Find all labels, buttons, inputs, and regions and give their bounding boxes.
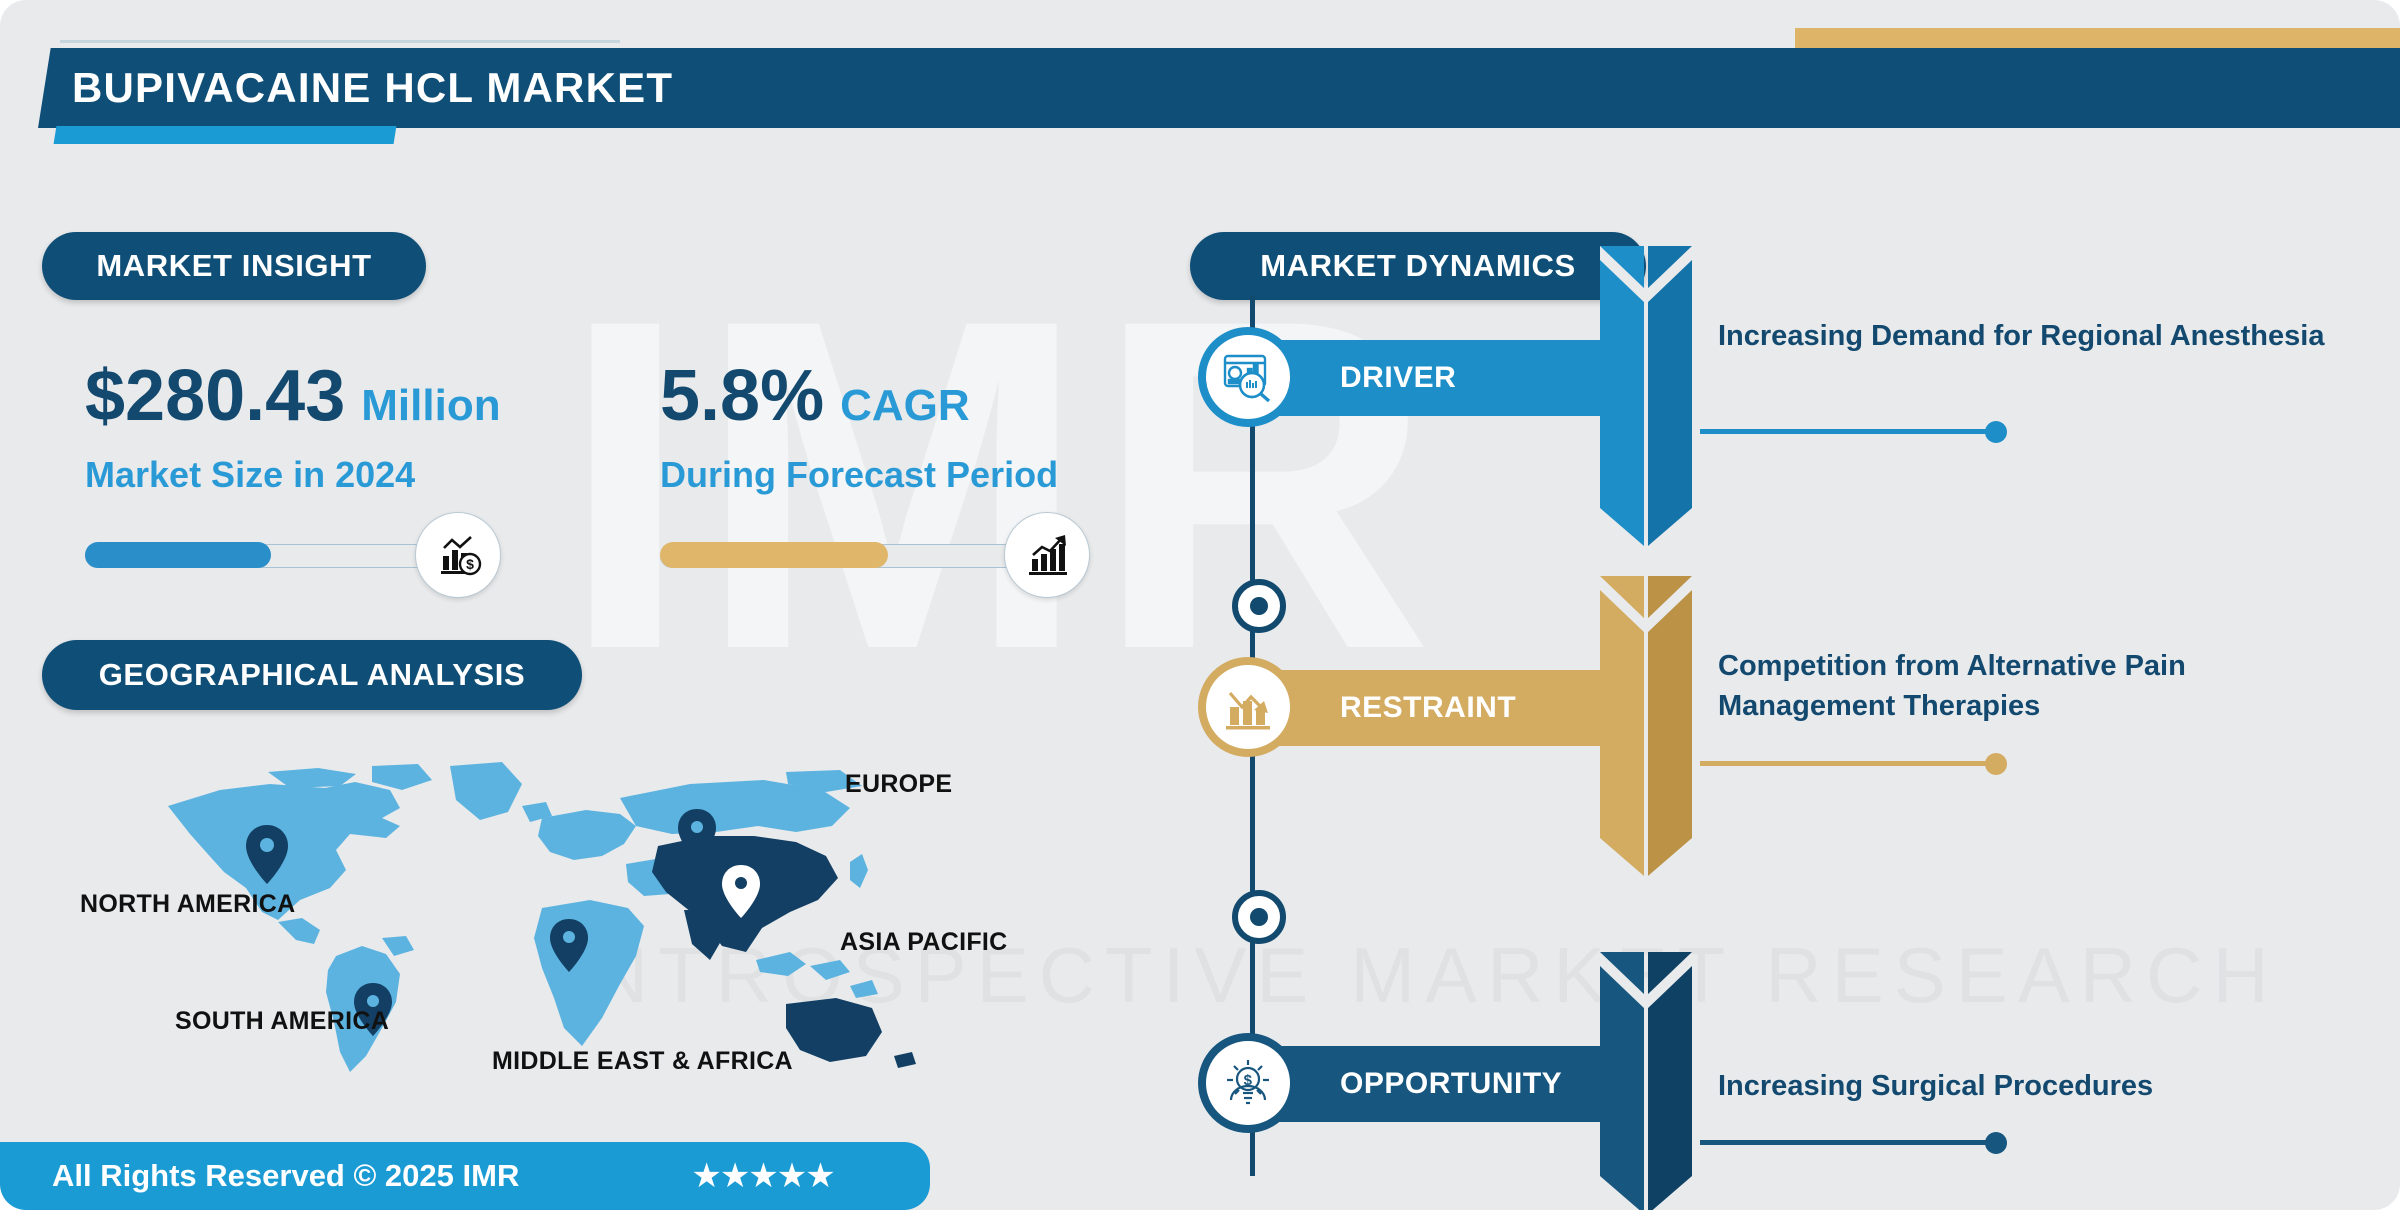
timeline-node — [1232, 890, 1286, 944]
dynamics-tab-restraint[interactable]: RESTRAINT — [1220, 670, 1610, 746]
dynamics-tab-label: RESTRAINT — [1340, 691, 1516, 725]
map-label-europe: EUROPE — [845, 770, 952, 799]
ribbon-driver — [1600, 246, 1692, 546]
header-rule — [60, 40, 620, 43]
bar-chart-dollar-icon: $ — [415, 512, 501, 598]
badge-market-insight: MARKET INSIGHT — [42, 232, 426, 300]
stat-value: $280.43 — [85, 360, 345, 432]
footer-bar: All Rights Reserved © 2025 IMR ★★★★★ — [0, 1142, 930, 1210]
stat-caption: Market Size in 2024 — [85, 454, 501, 496]
stat-caption: During Forecast Period — [660, 454, 1060, 496]
declining-bar-chart-icon — [1198, 657, 1298, 757]
badge-geographical-analysis: GEOGRAPHICAL ANALYSIS — [42, 640, 582, 710]
progress-bar-cagr — [660, 528, 1060, 582]
stat-unit: Million — [361, 384, 500, 428]
growth-arrow-chart-icon — [1004, 512, 1090, 598]
stat-value: 5.8% — [660, 360, 824, 432]
leader-dot — [1985, 421, 2007, 443]
market-dynamics-timeline: DRIVER Increasing Demand for Regional An… — [1190, 296, 2390, 1206]
stat-market-size: $280.43 Million Market Size in 2024 $ — [85, 360, 501, 582]
progress-fill — [85, 542, 271, 568]
map-label-middle-east-africa: MIDDLE EAST & AFRICA — [492, 1047, 793, 1076]
leader-dot — [1985, 1132, 2007, 1154]
progress-bar-market-size: $ — [85, 528, 485, 582]
infographic-canvas: IMR INTROSPECTIVE MARKET RESEARCH BUPIVA… — [0, 0, 2400, 1210]
header-gold-accent — [1795, 28, 2400, 50]
dynamics-tab-opportunity[interactable]: $ OPPORTUNITY — [1220, 1046, 1610, 1122]
timeline-node — [1232, 579, 1286, 633]
map-label-south-america: SOUTH AMERICA — [175, 1007, 389, 1036]
map-label-north-america: NORTH AMERICA — [80, 890, 295, 919]
page-title: BUPIVACAINE HCL MARKET — [72, 55, 673, 121]
copyright-text: All Rights Reserved © 2025 IMR — [52, 1158, 519, 1194]
dynamics-description-driver: Increasing Demand for Regional Anesthesi… — [1718, 316, 2358, 356]
svg-text:$: $ — [466, 556, 474, 572]
map-label-asia-pacific: ASIA PACIFIC — [840, 928, 1008, 957]
progress-fill — [660, 542, 888, 568]
dynamics-leader-line-opportunity — [1700, 1140, 1998, 1145]
header-underline-accent — [54, 126, 397, 144]
stat-cagr: 5.8% CAGR During Forecast Period — [660, 360, 1060, 582]
dynamics-description-restraint: Competition from Alternative Pain Manage… — [1718, 646, 2358, 726]
stat-unit: CAGR — [840, 384, 970, 428]
ribbon-opportunity — [1600, 952, 1692, 1210]
badge-market-dynamics: MARKET DYNAMICS — [1190, 232, 1646, 300]
rating-stars: ★★★★★ — [691, 1156, 833, 1196]
dynamics-description-opportunity: Increasing Surgical Procedures — [1718, 1066, 2358, 1106]
lightbulb-dollar-icon: $ — [1198, 1033, 1298, 1133]
dynamics-tab-label: DRIVER — [1340, 361, 1456, 395]
dynamics-tab-driver[interactable]: DRIVER — [1220, 340, 1610, 416]
dynamics-tab-label: OPPORTUNITY — [1340, 1067, 1562, 1101]
dashboard-magnifier-icon — [1198, 327, 1298, 427]
ribbon-restraint — [1600, 576, 1692, 876]
dynamics-leader-line-restraint — [1700, 761, 1998, 766]
dynamics-leader-line-driver — [1700, 429, 1998, 434]
leader-dot — [1985, 753, 2007, 775]
